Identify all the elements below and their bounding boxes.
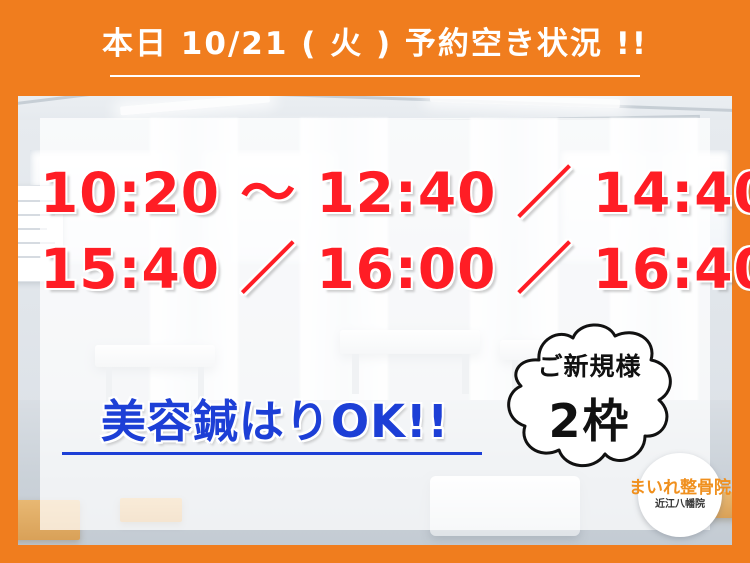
promo-headline: 美容鍼はりOK!! <box>60 385 490 450</box>
time-row: 10:20 ～ 12:40 ／ 14:40 <box>40 155 710 231</box>
promo-headline-underline <box>62 452 482 455</box>
clinic-logo: まいれ整骨院 近江八幡院 <box>638 453 722 537</box>
new-customer-bubble: ご新規様 2枠 <box>497 318 682 478</box>
left-border <box>0 0 18 563</box>
time-row: 15:40 ／ 16:00 ／ 16:40 <box>40 231 710 307</box>
logo-sub-text: 近江八幡院 <box>655 498 705 511</box>
availability-times: 10:20 ～ 12:40 ／ 14:40 15:40 ／ 16:00 ／ 16… <box>40 155 710 307</box>
promo-poster: 本日 10/21 ( 火 ) 予約空き状況 !! 10:20 ～ 12:40 ／… <box>0 0 750 563</box>
page-title: 本日 10/21 ( 火 ) 予約空き状況 !! <box>0 18 750 63</box>
footer-bar <box>0 545 750 563</box>
logo-mark-text: まいれ整骨院 <box>629 479 731 498</box>
cloud-shape <box>497 318 682 478</box>
title-underline <box>110 75 640 77</box>
